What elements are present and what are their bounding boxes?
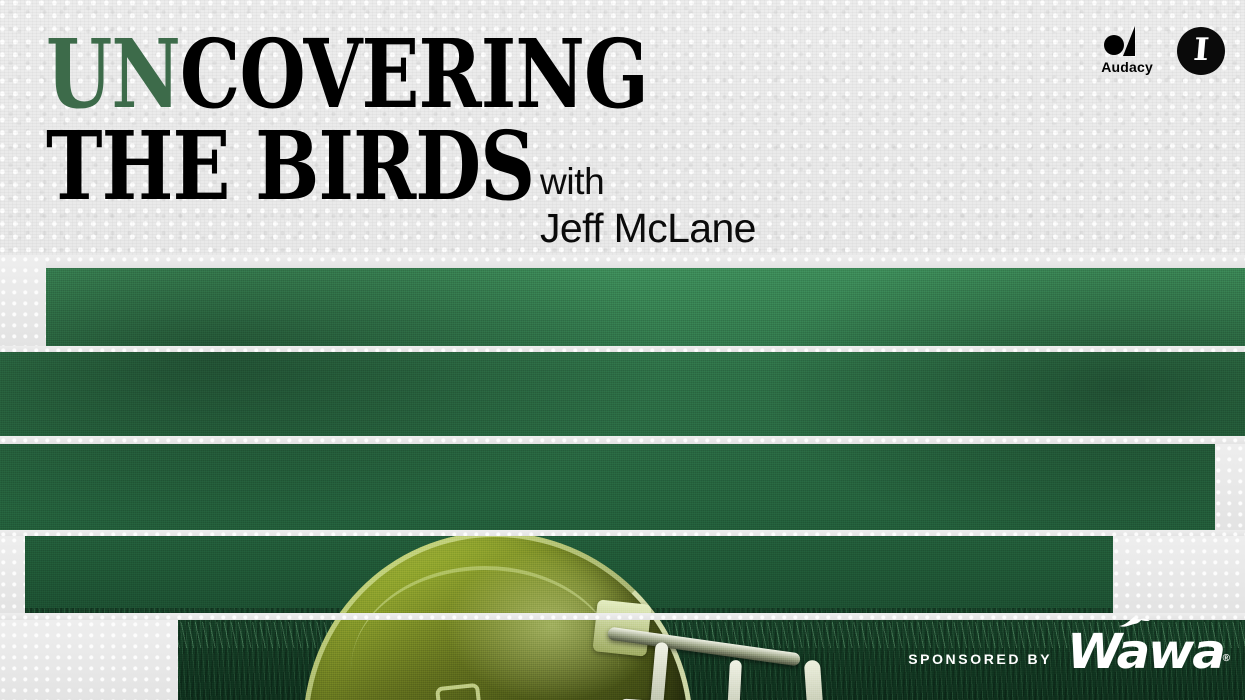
audacy-dot-icon (1104, 35, 1124, 55)
inquirer-monogram-icon: I (1192, 35, 1210, 66)
stripe-gap-top (0, 255, 1245, 268)
wawa-wordmark: Wawa (1067, 628, 1224, 676)
audacy-wedge-icon (1123, 26, 1135, 56)
stripe-gap-2 (0, 436, 1245, 444)
stripe-gap-4 (0, 613, 1245, 620)
inquirer-logo[interactable]: I (1177, 27, 1225, 75)
wawa-logo[interactable]: Wawa ® (1070, 628, 1221, 676)
stripe-gap-left-5 (0, 620, 178, 700)
byline-host-name: Jeff McLane (540, 204, 756, 252)
stripe-gap-left-1 (0, 255, 46, 346)
stripe-gap-right-4 (1113, 536, 1245, 613)
cover-art-canvas: UNCOVERING THE BIRDS with Jeff McLane Au… (0, 0, 1245, 700)
stripe-gap-1 (0, 346, 1245, 352)
audacy-mark-icon (1104, 26, 1150, 56)
audacy-logo[interactable]: Audacy (1101, 26, 1153, 75)
facemask-outer-edge (804, 660, 834, 700)
stripe-gap-3 (0, 530, 1245, 536)
network-logos: Audacy I (1101, 26, 1225, 75)
sponsor-block: SPONSORED BY Wawa ® (908, 628, 1221, 676)
byline-with: with (540, 160, 756, 204)
title-line-1: UNCOVERING (46, 36, 648, 114)
sponsored-by-label: SPONSORED BY (908, 651, 1052, 676)
facemask-vertical-bar (720, 660, 742, 700)
stripe-gap-right-3 (1215, 444, 1245, 530)
stripe-gap-left-4 (0, 536, 25, 613)
wawa-trademark: ® (1223, 653, 1230, 664)
host-byline: with Jeff McLane (540, 160, 756, 252)
audacy-wordmark: Audacy (1101, 59, 1153, 75)
football-helmet (255, 510, 895, 700)
